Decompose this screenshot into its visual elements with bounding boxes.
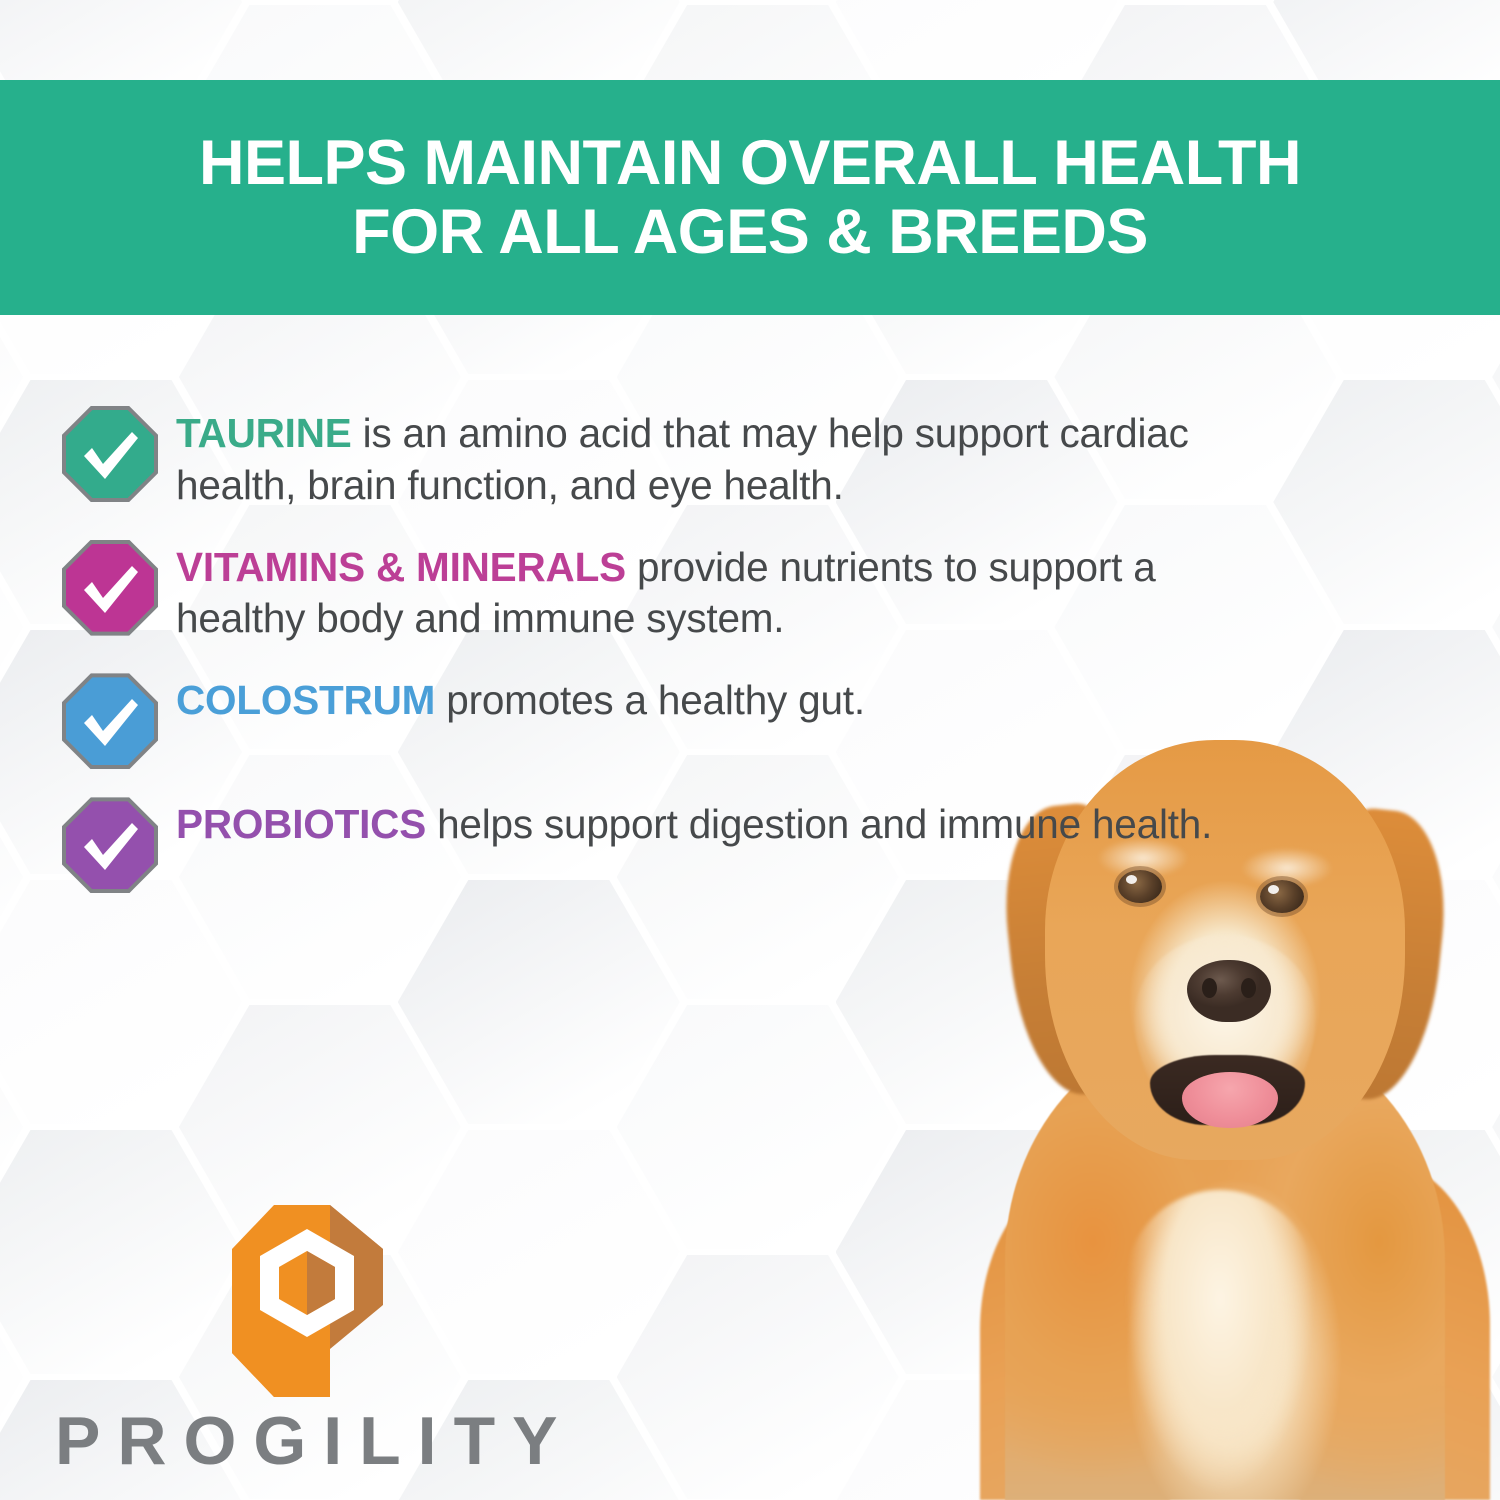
benefit-description: helps support digestion and immune healt… xyxy=(426,801,1212,847)
benefits-list: TAURINE is an amino acid that may help s… xyxy=(0,400,1260,915)
benefit-item: COLOSTRUM promotes a healthy gut. xyxy=(0,667,1260,769)
benefit-item: PROBIOTICS helps support digestion and i… xyxy=(0,791,1260,893)
benefit-item: TAURINE is an amino acid that may help s… xyxy=(0,400,1260,512)
header-banner: HELPS MAINTAIN OVERALL HEALTH FOR ALL AG… xyxy=(0,80,1500,315)
benefit-text: VITAMINS & MINERALS provide nutrients to… xyxy=(176,534,1260,646)
benefit-keyword: VITAMINS & MINERALS xyxy=(176,544,626,590)
check-icon xyxy=(62,673,158,769)
hexagon-shape xyxy=(617,1005,899,1249)
header-title-line-1: HELPS MAINTAIN OVERALL HEALTH xyxy=(199,129,1301,197)
progility-hexagon-p-logo-icon xyxy=(230,1201,385,1401)
hexagon-shape xyxy=(617,1255,899,1499)
benefit-text: COLOSTRUM promotes a healthy gut. xyxy=(176,667,1260,727)
product-infographic-canvas: HELPS MAINTAIN OVERALL HEALTH FOR ALL AG… xyxy=(0,0,1500,1500)
benefit-description: promotes a healthy gut. xyxy=(435,677,865,723)
check-icon xyxy=(62,797,158,893)
benefit-text: PROBIOTICS helps support digestion and i… xyxy=(176,791,1260,851)
benefit-item: VITAMINS & MINERALS provide nutrients to… xyxy=(0,534,1260,646)
dog-eye-glint-right xyxy=(1268,885,1279,894)
dog-nostril-right xyxy=(1241,978,1256,998)
benefit-text: TAURINE is an amino acid that may help s… xyxy=(176,400,1260,512)
benefit-keyword: TAURINE xyxy=(176,410,352,456)
dog-eye-right xyxy=(1260,880,1304,913)
dog-nose xyxy=(1187,960,1271,1022)
check-icon xyxy=(62,540,158,636)
check-icon xyxy=(62,406,158,502)
dog-nostril-left xyxy=(1202,978,1217,998)
dog-tongue xyxy=(1182,1072,1278,1128)
hexagon-shape xyxy=(398,880,680,1124)
benefit-keyword: PROBIOTICS xyxy=(176,801,426,847)
header-title-line-2: FOR ALL AGES & BREEDS xyxy=(352,198,1148,266)
dog-chest xyxy=(1125,1190,1315,1500)
brand-wordmark: PROGILITY xyxy=(55,1407,574,1475)
benefit-keyword: COLOSTRUM xyxy=(176,677,435,723)
brand-logo: PROGILITY xyxy=(55,1201,574,1475)
